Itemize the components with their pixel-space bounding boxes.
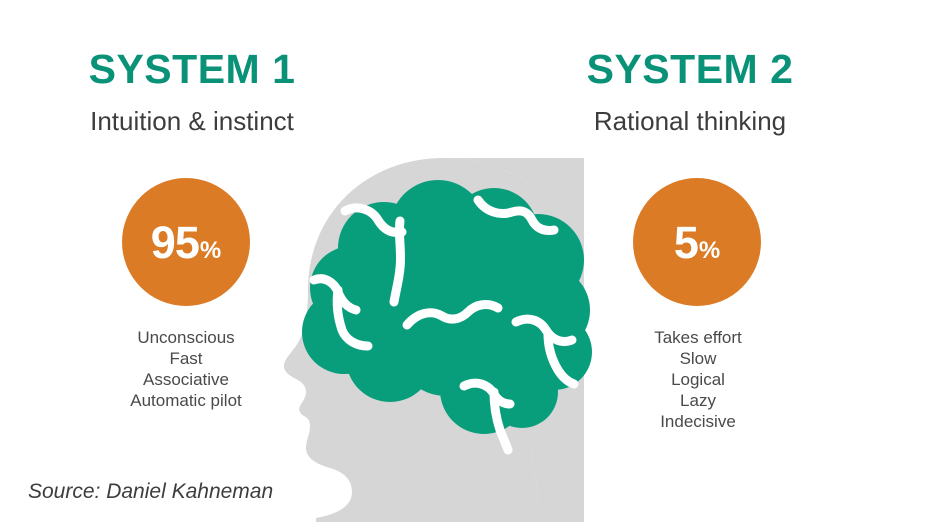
list-item: Fast: [56, 348, 316, 369]
system-1-title: SYSTEM 1: [22, 48, 362, 91]
system-1-percent-number: 95: [151, 220, 199, 265]
system-1-heading-group: SYSTEM 1 Intuition & instinct: [22, 48, 362, 136]
list-item: Unconscious: [56, 327, 316, 348]
system-2-title: SYSTEM 2: [520, 48, 860, 91]
system-1-traits-list: Unconscious Fast Associative Automatic p…: [56, 327, 316, 411]
system-2-percent-circle: 5 %: [633, 178, 761, 306]
source-credit: Source: Daniel Kahneman: [28, 480, 273, 504]
infographic-slide: SYSTEM 1 Intuition & instinct SYSTEM 2 R…: [0, 0, 927, 522]
system-1-subtitle: Intuition & instinct: [22, 107, 362, 136]
system-1-percent-sign: %: [200, 239, 221, 263]
system-1-percent-value-group: 95 %: [151, 220, 221, 265]
system-2-heading-group: SYSTEM 2 Rational thinking: [520, 48, 860, 136]
list-item: Takes effort: [568, 327, 828, 348]
system-2-percent-number: 5: [674, 220, 698, 265]
list-item: Lazy: [568, 390, 828, 411]
list-item: Indecisive: [568, 411, 828, 432]
system-2-traits-list: Takes effort Slow Logical Lazy Indecisiv…: [568, 327, 828, 432]
list-item: Slow: [568, 348, 828, 369]
list-item: Logical: [568, 369, 828, 390]
list-item: Automatic pilot: [56, 390, 316, 411]
system-2-subtitle: Rational thinking: [520, 107, 860, 136]
system-2-percent-sign: %: [699, 239, 720, 263]
system-1-percent-circle: 95 %: [122, 178, 250, 306]
list-item: Associative: [56, 369, 316, 390]
system-2-percent-value-group: 5 %: [674, 220, 720, 265]
